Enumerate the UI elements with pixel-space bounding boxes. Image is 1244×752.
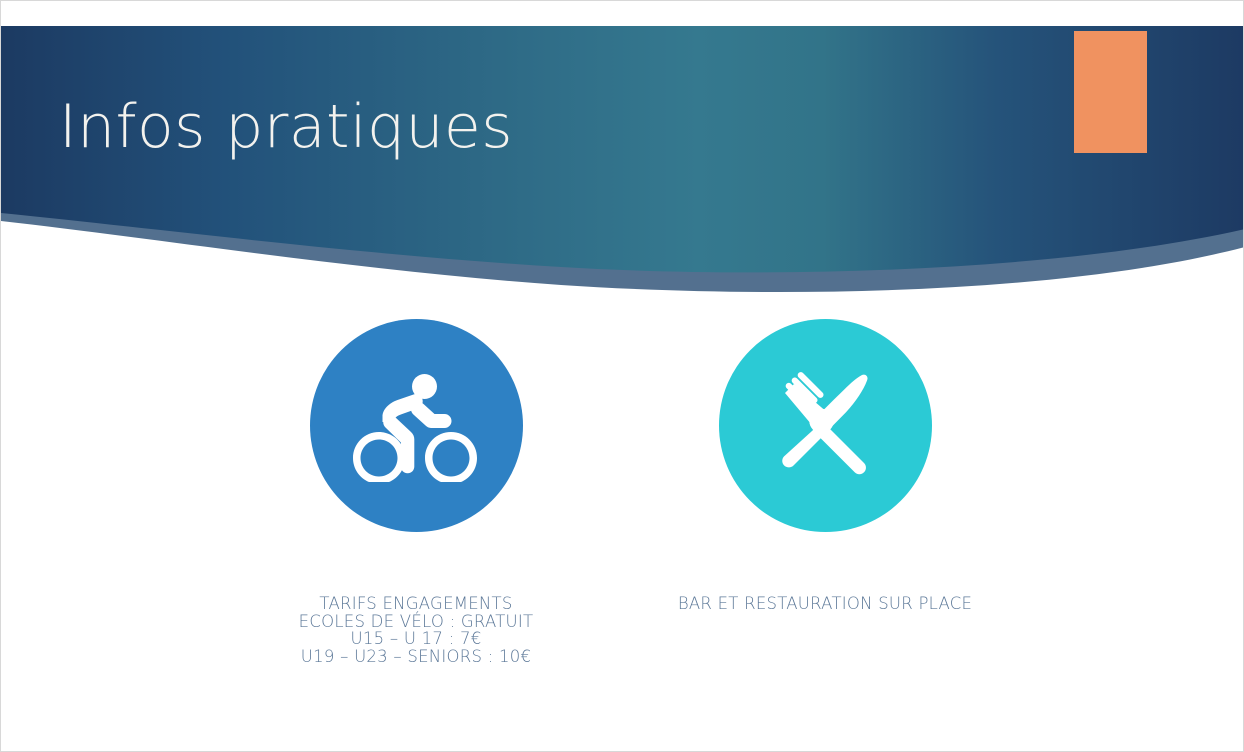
cyclist-icon-circle[interactable]	[310, 319, 523, 532]
caption-bar: BAR ET RESTAURATION SUR PLACE	[678, 595, 972, 613]
info-column-tarifs: TARIFS ENGAGEMENTS ECOLES DE VÉLO : GRAT…	[206, 319, 626, 665]
caption-tarifs: TARIFS ENGAGEMENTS ECOLES DE VÉLO : GRAT…	[299, 595, 534, 665]
fork-knife-icon	[766, 367, 884, 485]
cyclist-icon	[351, 370, 481, 482]
slide-content: TARIFS ENGAGEMENTS ECOLES DE VÉLO : GRAT…	[1, 319, 1244, 699]
orange-accent-rectangle	[1074, 31, 1147, 153]
page-title: Infos pratiques	[59, 97, 513, 157]
info-column-bar: BAR ET RESTAURATION SUR PLACE	[615, 319, 1035, 613]
presentation-slide: Infos pratiques	[0, 0, 1244, 752]
fork-knife-icon-circle[interactable]	[719, 319, 932, 532]
